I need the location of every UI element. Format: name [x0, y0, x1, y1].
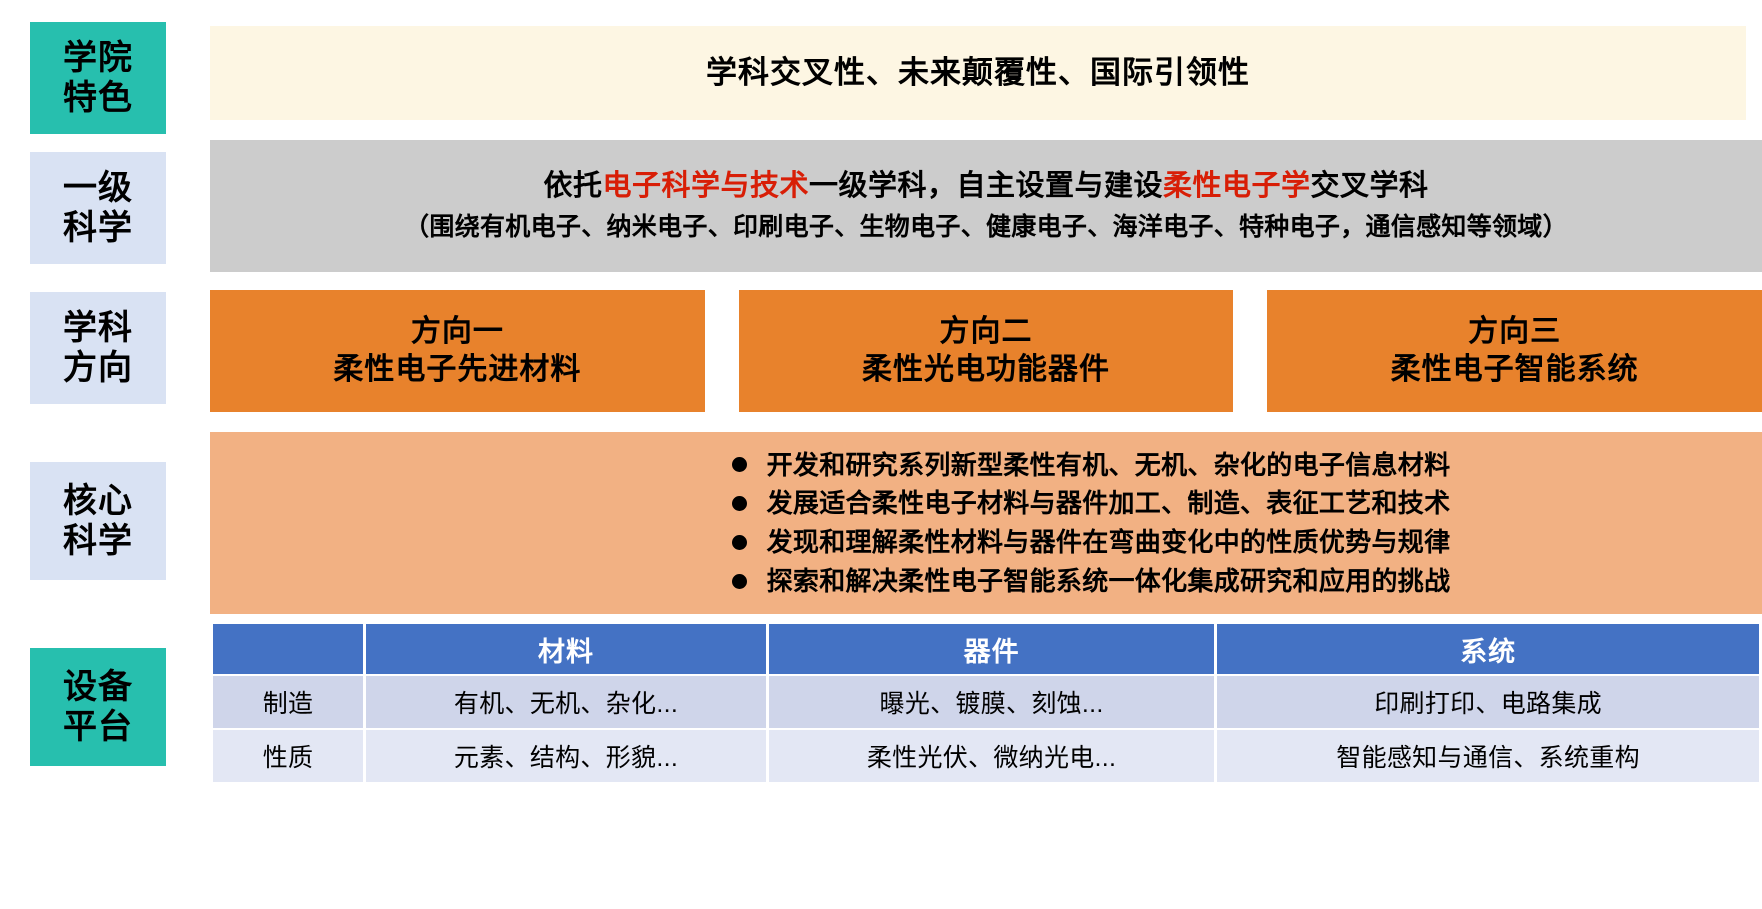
core-science-bullet-3-text: 发现和理解柔性材料与器件在弯曲变化中的性质优势与规律	[767, 527, 1451, 558]
bullet-dot-icon	[732, 535, 747, 550]
equipment-table-wrapper: 材料 器件 系统 制造 有机、无机、杂化... 曝光、镀膜、刻蚀... 印刷打印…	[210, 622, 1762, 784]
direction-card-1-title: 方向一	[411, 313, 504, 351]
section-label-features-line2: 特色	[63, 78, 133, 118]
section-label-directions-line1: 学科	[63, 308, 133, 348]
section-label-core-science-line2: 科学	[63, 521, 133, 561]
table-header-devices: 器件	[769, 624, 1214, 674]
table-row-1-materials: 有机、无机、杂化...	[366, 676, 766, 728]
table-row-1-label: 制造	[213, 676, 363, 728]
table-row-2-systems: 智能感知与通信、系统重构	[1217, 730, 1759, 782]
features-content-box: 学科交叉性、未来颠覆性、国际引领性	[210, 26, 1746, 120]
direction-card-2[interactable]: 方向二 柔性光电功能器件	[739, 290, 1234, 412]
discipline-headline-part2: 一级学科，自主设置与建设	[809, 170, 1163, 202]
core-science-bullet-3: 发现和理解柔性材料与器件在弯曲变化中的性质优势与规律	[732, 527, 1451, 558]
table-header-corner	[213, 624, 363, 674]
discipline-headline: 依托电子科学与技术一级学科，自主设置与建设柔性电子学交叉学科	[543, 169, 1428, 203]
features-text: 学科交叉性、未来颠覆性、国际引领性	[706, 55, 1250, 92]
section-label-directions-line2: 方向	[63, 348, 133, 388]
equipment-table-head: 材料 器件 系统	[213, 624, 1759, 674]
core-science-bullet-2-text: 发展适合柔性电子材料与器件加工、制造、表征工艺和技术	[767, 488, 1451, 519]
discipline-content-box: 依托电子科学与技术一级学科，自主设置与建设柔性电子学交叉学科 （围绕有机电子、纳…	[210, 140, 1762, 272]
table-row-1-systems: 印刷打印、电路集成	[1217, 676, 1759, 728]
directions-container: 方向一 柔性电子先进材料 方向二 柔性光电功能器件 方向三 柔性电子智能系统	[210, 290, 1762, 412]
equipment-table: 材料 器件 系统 制造 有机、无机、杂化... 曝光、镀膜、刻蚀... 印刷打印…	[210, 622, 1762, 784]
section-label-features: 学院 特色	[30, 22, 166, 134]
core-science-bullet-1: 开发和研究系列新型柔性有机、无机、杂化的电子信息材料	[732, 450, 1451, 481]
core-science-box: 开发和研究系列新型柔性有机、无机、杂化的电子信息材料 发展适合柔性电子材料与器件…	[210, 432, 1762, 614]
core-science-bullet-1-text: 开发和研究系列新型柔性有机、无机、杂化的电子信息材料	[767, 450, 1451, 481]
section-label-equipment-line2: 平台	[63, 707, 133, 747]
section-label-discipline: 一级 科学	[30, 152, 166, 264]
equipment-table-body: 制造 有机、无机、杂化... 曝光、镀膜、刻蚀... 印刷打印、电路集成 性质 …	[213, 676, 1759, 782]
section-label-discipline-line2: 科学	[63, 208, 133, 248]
direction-card-3-subtitle: 柔性电子智能系统	[1391, 351, 1639, 389]
section-label-core-science-line1: 核心	[63, 481, 133, 521]
section-label-features-line1: 学院	[63, 38, 133, 78]
discipline-headline-part1: 依托	[543, 170, 602, 202]
table-header-row: 材料 器件 系统	[213, 624, 1759, 674]
direction-card-1-subtitle: 柔性电子先进材料	[333, 351, 581, 389]
table-row: 制造 有机、无机、杂化... 曝光、镀膜、刻蚀... 印刷打印、电路集成	[213, 676, 1759, 728]
discipline-headline-part3: 交叉学科	[1311, 170, 1429, 202]
direction-card-3-title: 方向三	[1468, 313, 1561, 351]
direction-card-1[interactable]: 方向一 柔性电子先进材料	[210, 290, 705, 412]
direction-card-2-subtitle: 柔性光电功能器件	[862, 351, 1110, 389]
bullet-dot-icon	[732, 496, 747, 511]
section-label-core-science: 核心 科学	[30, 462, 166, 580]
bullet-dot-icon	[732, 574, 747, 589]
direction-card-2-title: 方向二	[940, 313, 1033, 351]
section-label-directions: 学科 方向	[30, 292, 166, 404]
table-header-materials: 材料	[366, 624, 766, 674]
slide-root: 学院 特色 学科交叉性、未来颠覆性、国际引领性 一级 科学 依托电子科学与技术一…	[0, 0, 1762, 909]
section-label-equipment: 设备 平台	[30, 648, 166, 766]
direction-card-3[interactable]: 方向三 柔性电子智能系统	[1267, 290, 1762, 412]
section-label-equipment-line1: 设备	[63, 667, 133, 707]
bullet-dot-icon	[732, 457, 747, 472]
table-row: 性质 元素、结构、形貌... 柔性光伏、微纳光电... 智能感知与通信、系统重构	[213, 730, 1759, 782]
discipline-headline-highlight-2: 柔性电子学	[1163, 170, 1311, 202]
table-header-systems: 系统	[1217, 624, 1759, 674]
table-row-2-materials: 元素、结构、形貌...	[366, 730, 766, 782]
table-row-1-devices: 曝光、镀膜、刻蚀...	[769, 676, 1214, 728]
core-science-bullet-2: 发展适合柔性电子材料与器件加工、制造、表征工艺和技术	[732, 488, 1451, 519]
discipline-headline-highlight-1: 电子科学与技术	[602, 170, 809, 202]
table-row-2-devices: 柔性光伏、微纳光电...	[769, 730, 1214, 782]
table-row-2-label: 性质	[213, 730, 363, 782]
section-label-discipline-line1: 一级	[63, 168, 133, 208]
core-science-bullet-4: 探索和解决柔性电子智能系统一体化集成研究和应用的挑战	[732, 566, 1451, 597]
core-science-bullet-4-text: 探索和解决柔性电子智能系统一体化集成研究和应用的挑战	[767, 566, 1451, 597]
discipline-subtext: （围绕有机电子、纳米电子、印刷电子、生物电子、健康电子、海洋电子、特种电子，通信…	[404, 213, 1568, 243]
